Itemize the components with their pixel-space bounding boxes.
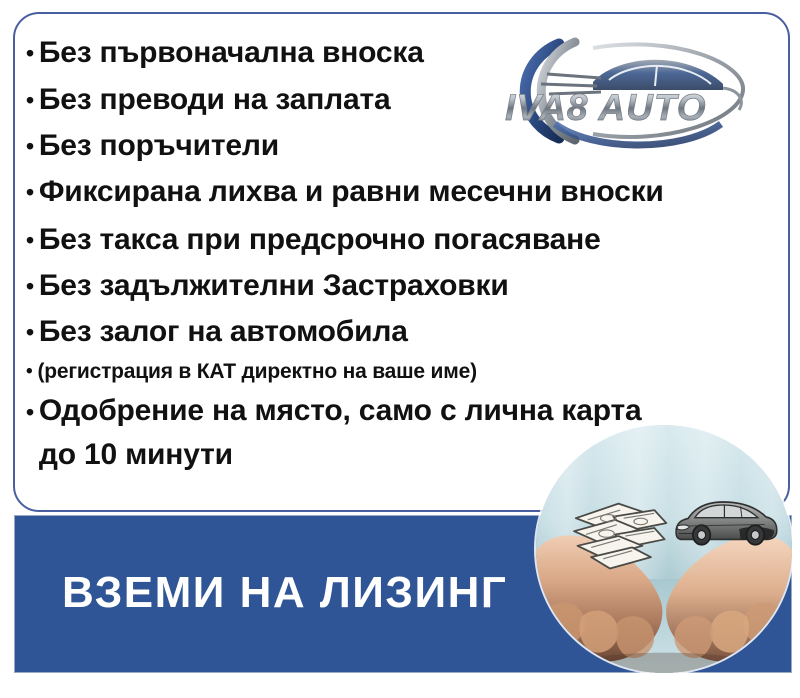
bullet-icon: • bbox=[26, 217, 39, 263]
bullet-icon: • bbox=[26, 353, 37, 391]
bullet-icon: • bbox=[26, 123, 39, 169]
bullet-icon: • bbox=[26, 77, 39, 123]
car-sketch-icon bbox=[672, 487, 780, 551]
hands-money-car-photo bbox=[536, 425, 792, 673]
list-item: • Без задължителни Застраховки bbox=[26, 263, 776, 309]
bullet-icon: • bbox=[26, 389, 39, 435]
list-item: • Без поръчители bbox=[26, 123, 776, 169]
leasing-advertisement-poster: • Без първоначална вноска • Без преводи … bbox=[0, 0, 800, 698]
bullet-icon: • bbox=[26, 263, 39, 309]
list-item-label: Без задължителни Застраховки bbox=[39, 263, 776, 308]
list-item-label: Без първоначална вноска bbox=[39, 30, 776, 75]
bullet-icon: • bbox=[26, 30, 39, 76]
cta-headline: ВЗЕМИ НА ЛИЗИНГ bbox=[62, 568, 507, 618]
list-item: • Без залог на автомобила bbox=[26, 309, 776, 355]
list-item-label: Фиксирана лихва и равни месечни вноски bbox=[39, 169, 776, 214]
list-item: • Фиксирана лихва и равни месечни вноски bbox=[26, 169, 776, 215]
list-item-label: Без поръчители bbox=[39, 123, 776, 168]
list-item: • Без преводи на заплата bbox=[26, 77, 776, 123]
list-item-label: (регистрация в КАТ директно на ваше име) bbox=[37, 353, 776, 391]
bullet-icon: • bbox=[26, 169, 39, 215]
list-item-label: Без такса при предсрочно погасяване bbox=[39, 217, 776, 262]
list-item-label: Без преводи на заплата bbox=[39, 77, 776, 122]
benefits-list: • Без първоначална вноска • Без преводи … bbox=[26, 22, 776, 477]
list-item-label: Без залог на автомобила bbox=[39, 309, 776, 354]
bullet-icon: • bbox=[26, 309, 39, 355]
money-bundles-icon bbox=[569, 489, 671, 578]
list-item: • Без такса при предсрочно погасяване bbox=[26, 217, 776, 263]
list-item: • Без първоначална вноска bbox=[26, 30, 776, 76]
list-item: • (регистрация в КАТ директно на ваше им… bbox=[26, 353, 776, 391]
